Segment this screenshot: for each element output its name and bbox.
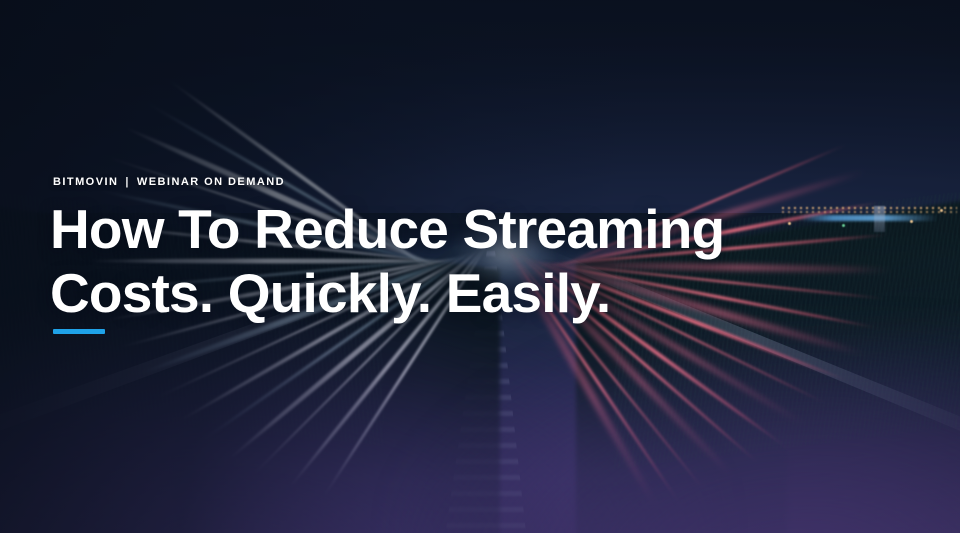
accent-bar	[53, 329, 105, 334]
eyebrow-separator: |	[118, 176, 137, 188]
brand-name: BITMOVIN	[53, 176, 118, 188]
eyebrow-kicker: BITMOVIN|WEBINAR ON DEMAND	[53, 176, 285, 188]
page-title: How To Reduce Streaming Costs. Quickly. …	[50, 197, 724, 325]
webinar-title-slide: BITMOVIN|WEBINAR ON DEMAND How To Reduce…	[0, 0, 960, 533]
headline-line-2: Costs. Quickly. Easily.	[50, 261, 724, 325]
slide-content: BITMOVIN|WEBINAR ON DEMAND How To Reduce…	[53, 0, 833, 533]
eyebrow-category: WEBINAR ON DEMAND	[137, 176, 285, 188]
headline-line-1: How To Reduce Streaming	[50, 197, 724, 261]
